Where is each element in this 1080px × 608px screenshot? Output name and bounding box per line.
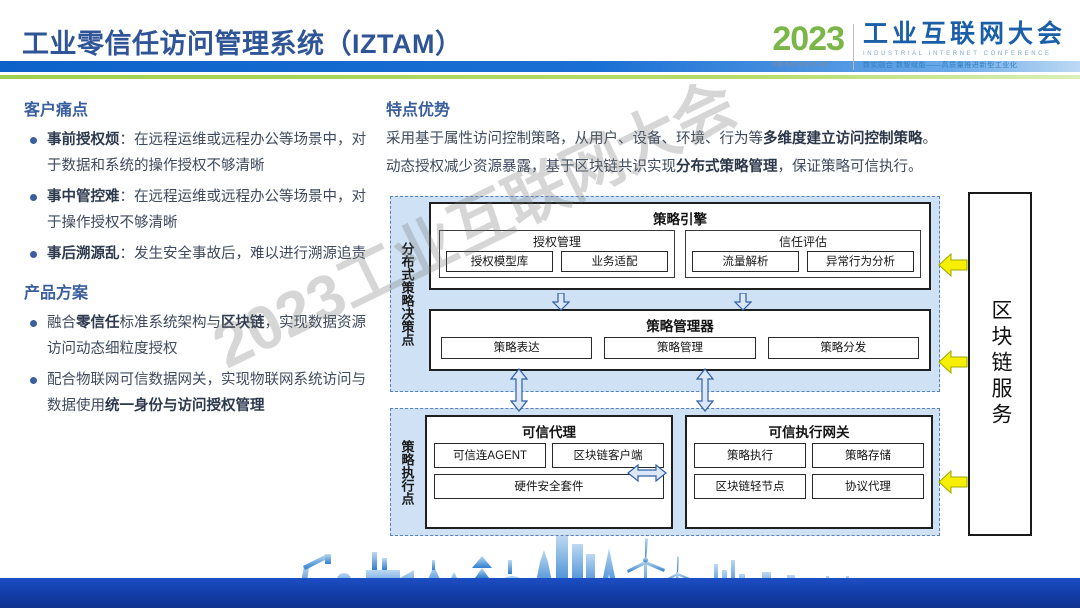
bullet-bold: 事中管控难 (47, 189, 120, 205)
bullet-bold: 事后溯源乱 (47, 246, 120, 262)
panel-blockchain-service: 区块链服务 (968, 192, 1032, 536)
zone-policy-decision-point: 分布式策略决策点 策略引擎 授权管理 授权模型库 业务适配 信任评 (390, 196, 940, 392)
pain-points-list: 事前授权烦：在远程运维或远程办公等场景中，对于数据和系统的操作授权不够清晰 事中… (24, 127, 376, 267)
paragraph-text: 。 (923, 131, 938, 147)
policy-manager-leaves: 策略表达 策略管理 策略分发 (431, 337, 929, 366)
zone-body-pdp: 策略引擎 授权管理 授权模型库 业务适配 信任评估 流量解 (423, 197, 939, 391)
card-title-trusted-gateway: 可信执行网关 (687, 417, 931, 443)
group-authorization-management: 授权管理 授权模型库 业务适配 (439, 230, 675, 278)
paragraph-text: 动态授权减少资源暴露，基于区块链共识实现 (386, 159, 676, 175)
section-heading-solution: 产品方案 (24, 279, 376, 303)
list-item: 配合物联网可信数据网关，实现物联网系统访问与数据使用统一身份与访问授权管理 (24, 367, 376, 419)
arrow-updown-icon (696, 368, 714, 412)
arrow-left-icon (938, 469, 968, 495)
paragraph-text: ，保证策略可信执行。 (778, 159, 923, 175)
section-heading-pain-points: 客户痛点 (24, 96, 376, 120)
logo-divider (853, 24, 854, 70)
arrow-updown-icon (510, 368, 528, 412)
slide-root: 工业零信任访问管理系统（IZTAM） 2023 中国·苏州 5月11日-12日 … (0, 0, 1080, 608)
feature-paragraph: 动态授权减少资源暴露，基于区块链共识实现分布式策略管理，保证策略可信执行。 (386, 153, 1058, 181)
leaf-node: 异常行为分析 (807, 251, 914, 272)
logo-year: 2023 (772, 22, 844, 56)
arrow-left-icon (938, 349, 968, 375)
sea-band (0, 578, 1080, 608)
leaf-node: 流量解析 (692, 251, 799, 272)
card-title-trusted-agent: 可信代理 (427, 417, 671, 443)
conference-logo: 2023 中国·苏州 5月11日-12日 工业互联网大会 INDUSTRIAL … (772, 22, 1066, 70)
enforcement-cards: 可信代理 可信连AGENT 区块链客户端 硬件安全套件 可信执行网关 策略执行 … (425, 415, 933, 529)
blockchain-service-label: 区块链服务 (985, 299, 1015, 429)
group-leaves: 流量解析 异常行为分析 (686, 251, 920, 277)
card-title-policy-manager: 策略管理器 (431, 311, 929, 337)
paragraph-bold: 分布式策略管理 (676, 159, 778, 175)
logo-slogan: 数实融合 数智赋能——高质量推进新型工业化 (863, 60, 1066, 70)
leaf-node: 策略分发 (768, 337, 919, 359)
bullet-bold: 事前授权烦 (47, 132, 120, 148)
section-heading-features: 特点优势 (386, 96, 1058, 120)
leaf-node: 策略执行 (694, 443, 806, 468)
arrow-leftright-icon (627, 464, 667, 482)
bullet-text: ：发生安全事故后，难以进行溯源追责 (120, 246, 367, 262)
card-policy-engine: 策略引擎 授权管理 授权模型库 业务适配 信任评估 流量解 (429, 202, 931, 290)
list-item: 事前授权烦：在远程运维或远程办公等场景中，对于数据和系统的操作授权不够清晰 (24, 127, 376, 179)
trusted-gateway-leaves: 策略执行 策略存储 区块链轻节点 协议代理 (687, 443, 931, 499)
leaf-node: 协议代理 (812, 474, 924, 499)
right-column: 特点优势 采用基于属性访问控制策略，从用户、设备、环境、行为等多维度建立访问控制… (386, 96, 1058, 181)
paragraph-bold: 多维度建立访问控制策略 (763, 131, 923, 147)
architecture-diagram: 分布式策略决策点 策略引擎 授权管理 授权模型库 业务适配 信任评 (390, 196, 1058, 536)
arrow-down-icon (552, 293, 570, 311)
zone-body-pep: 可信代理 可信连AGENT 区块链客户端 硬件安全套件 可信执行网关 策略执行 … (423, 409, 939, 535)
solution-list: 融合零信任标准系统架构与区块链，实现数据资源访问动态细粒度授权 配合物联网可信数… (24, 310, 376, 419)
bullet-bold: 区块链 (221, 315, 265, 331)
card-title-policy-engine: 策略引擎 (431, 204, 929, 230)
bullet-text: 融合 (47, 315, 76, 331)
card-policy-manager: 策略管理器 策略表达 策略管理 策略分发 (429, 309, 931, 371)
arrow-left-icon (938, 252, 968, 278)
leaf-node: 可信连AGENT (434, 443, 546, 468)
zone-label-pep: 策略执行点 (391, 409, 423, 535)
card-trusted-gateway: 可信执行网关 策略执行 策略存储 区块链轻节点 协议代理 (685, 415, 933, 529)
left-column: 客户痛点 事前授权烦：在远程运维或远程办公等场景中，对于数据和系统的操作授权不够… (24, 96, 376, 424)
logo-year-subtitle: 中国·苏州 5月11日-12日 (772, 61, 844, 68)
bullet-bold: 统一身份与访问授权管理 (105, 398, 265, 414)
logo-name-cn: 工业互联网大会 (863, 22, 1066, 47)
arrow-down-icon (734, 293, 752, 311)
group-leaves: 授权模型库 业务适配 (440, 251, 674, 277)
leaf-node: 业务适配 (561, 251, 668, 272)
header-green-line (0, 75, 1080, 79)
leaf-node: 策略表达 (441, 337, 592, 359)
zone-label-pdp: 分布式策略决策点 (391, 197, 423, 391)
paragraph-text: 采用基于属性访问控制策略，从用户、设备、环境、行为等 (386, 131, 763, 147)
policy-engine-groups: 授权管理 授权模型库 业务适配 信任评估 流量解析 异常行为分析 (431, 230, 929, 284)
skyline-graphic (0, 530, 1080, 608)
leaf-node: 策略存储 (812, 443, 924, 468)
leaf-node: 授权模型库 (446, 251, 553, 272)
page-title: 工业零信任访问管理系统（IZTAM） (22, 22, 462, 61)
group-title: 授权管理 (440, 231, 674, 251)
leaf-node: 区块链轻节点 (694, 474, 806, 499)
bullet-text: 标准系统架构与 (120, 315, 222, 331)
leaf-node: 策略管理 (604, 337, 755, 359)
group-title: 信任评估 (686, 231, 920, 251)
logo-name-en: INDUSTRIAL INTERNET CONFERENCE (863, 51, 1066, 57)
list-item: 融合零信任标准系统架构与区块链，实现数据资源访问动态细粒度授权 (24, 310, 376, 362)
list-item: 事后溯源乱：发生安全事故后，难以进行溯源追责 (24, 241, 376, 267)
bullet-bold: 零信任 (76, 315, 120, 331)
feature-paragraph: 采用基于属性访问控制策略，从用户、设备、环境、行为等多维度建立访问控制策略。 (386, 125, 1058, 153)
group-trust-assessment: 信任评估 流量解析 异常行为分析 (685, 230, 921, 278)
list-item: 事中管控难：在远程运维或远程办公等场景中，对于操作授权不够清晰 (24, 184, 376, 236)
